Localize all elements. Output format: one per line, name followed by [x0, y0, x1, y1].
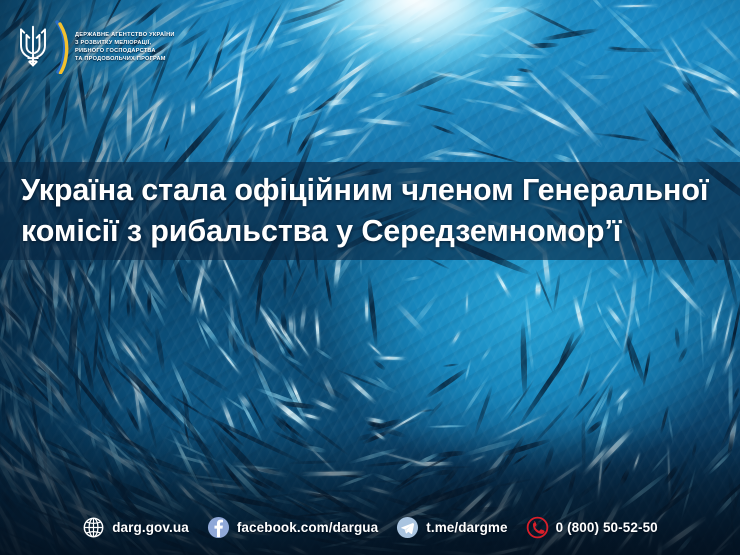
contact-facebook[interactable]: facebook.com/dargua	[207, 516, 378, 539]
agency-line-1: ДЕРЖАВНЕ АГЕНТСТВО УКРАЇНИ	[75, 31, 175, 39]
agency-logo: ДЕРЖАВНЕ АГЕНТСТВО УКРАЇНИ З РОЗВИТКУ МЕ…	[14, 20, 175, 74]
agency-name-text: ДЕРЖАВНЕ АГЕНТСТВО УКРАЇНИ З РОЗВИТКУ МЕ…	[75, 31, 175, 63]
contact-telegram[interactable]: t.me/dargme	[396, 516, 507, 539]
globe-icon	[82, 516, 105, 539]
ukrainian-trident-icon	[14, 23, 52, 71]
blue-yellow-ribbon-icon	[55, 20, 69, 74]
headline-line-2: комісії з рибальства у Середземномор’ї	[21, 211, 726, 252]
footer-contact-bar: darg.gov.ua facebook.com/dargua t.me/dar…	[0, 499, 740, 555]
telegram-icon	[396, 516, 419, 539]
facebook-icon	[207, 516, 230, 539]
contact-phone[interactable]: 0 (800) 50-52-50	[526, 516, 658, 539]
agency-line-2: З РОЗВИТКУ МЕЛІОРАЦІЇ,	[75, 39, 175, 47]
agency-line-4: ТА ПРОДОВОЛЬЧИХ ПРОГРАМ	[75, 55, 175, 63]
poster-root: ДЕРЖАВНЕ АГЕНТСТВО УКРАЇНИ З РОЗВИТКУ МЕ…	[0, 0, 740, 555]
telegram-label: t.me/dargme	[426, 520, 507, 535]
facebook-label: facebook.com/dargua	[237, 520, 378, 535]
contact-website[interactable]: darg.gov.ua	[82, 516, 189, 539]
agency-line-3: РИБНОГО ГОСПОДАРСТВА	[75, 47, 175, 55]
phone-label: 0 (800) 50-52-50	[556, 520, 658, 535]
headline-line-1: Україна стала офіційним членом Генеральн…	[21, 170, 726, 211]
headline-banner: Україна стала офіційним членом Генеральн…	[0, 162, 740, 260]
phone-icon	[526, 516, 549, 539]
website-label: darg.gov.ua	[112, 520, 189, 535]
vignette-overlay	[0, 0, 740, 555]
